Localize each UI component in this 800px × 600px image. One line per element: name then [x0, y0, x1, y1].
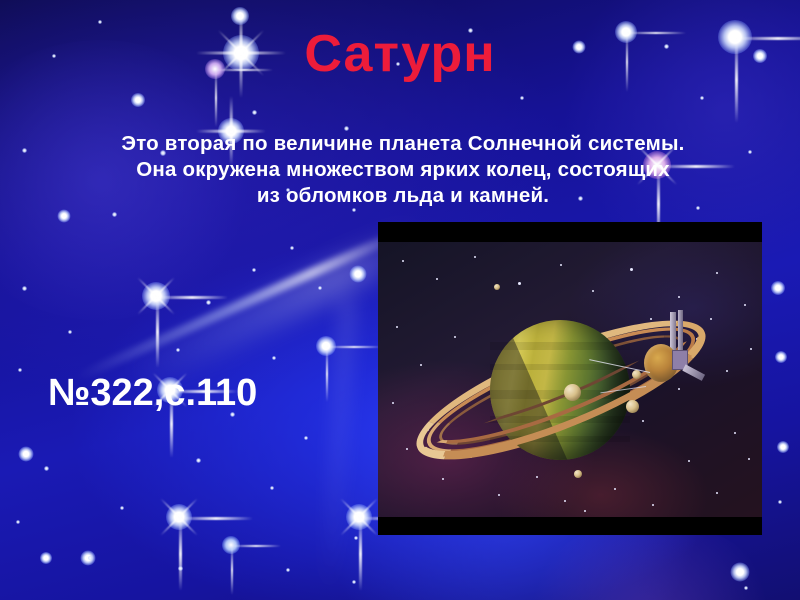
photo-star — [716, 492, 718, 494]
moon-small-lower — [574, 470, 582, 478]
point-star — [44, 466, 49, 471]
point-star — [520, 96, 524, 100]
point-star — [286, 568, 290, 572]
photo-star — [716, 272, 718, 274]
photo-star — [734, 432, 736, 434]
spacecraft-mast-secondary — [678, 310, 683, 352]
photo-star — [584, 510, 586, 512]
burst-star — [120, 260, 192, 332]
burst-star — [4, 432, 48, 476]
photo-star — [688, 460, 690, 462]
moon-beside-craft — [626, 400, 639, 413]
description-line: Это вторая по величине планета Солнечной… — [38, 131, 768, 157]
burst-star — [714, 546, 766, 598]
point-star — [290, 246, 294, 250]
burst-star — [28, 540, 64, 576]
photo-star — [652, 504, 654, 506]
burst-star — [116, 78, 160, 122]
spacecraft — [640, 308, 712, 394]
photo-star — [518, 282, 521, 285]
light-ray-vertical — [320, 300, 357, 600]
point-star — [98, 20, 102, 24]
point-star — [68, 330, 72, 334]
light-ray-diagonal — [74, 227, 407, 383]
slide-saturn: Сатурн Это вторая по величине планета Со… — [0, 0, 800, 600]
burst-star — [764, 340, 798, 374]
burst-star — [66, 536, 110, 580]
burst-star — [766, 430, 800, 464]
point-star — [252, 110, 257, 115]
burst-star — [298, 318, 354, 374]
point-star — [196, 458, 201, 463]
point-star — [22, 286, 27, 291]
point-star — [778, 500, 782, 504]
photo-star — [744, 304, 746, 306]
photo-star — [436, 278, 438, 280]
point-star — [18, 368, 22, 372]
point-star — [22, 148, 27, 153]
exercise-reference: №322,с.110 — [48, 374, 257, 412]
spacecraft-rtg-boom — [682, 364, 705, 381]
photo-star — [396, 326, 398, 328]
point-star — [16, 520, 20, 524]
point-star — [270, 486, 274, 490]
photo-star — [402, 260, 404, 262]
point-star — [700, 96, 704, 100]
point-star — [178, 566, 183, 571]
point-star — [272, 356, 276, 360]
point-star — [318, 286, 322, 290]
photo-star — [748, 458, 750, 460]
photo-star — [614, 488, 616, 490]
description-line: из обломков льда и камней. — [38, 183, 768, 209]
saturn-image — [378, 222, 762, 535]
point-star — [206, 300, 211, 305]
burst-star — [334, 250, 382, 298]
page-title: Сатурн — [0, 28, 800, 80]
moon-large — [564, 384, 581, 401]
description-line: Она окружена множеством ярких колец, сос… — [38, 157, 768, 183]
point-star — [304, 436, 308, 440]
saturn-planet — [490, 320, 630, 460]
burst-star — [758, 268, 798, 308]
photo-star — [474, 256, 476, 258]
photo-star — [750, 348, 752, 350]
photo-star — [560, 264, 562, 266]
point-star — [252, 268, 256, 272]
burst-star — [206, 520, 256, 570]
point-star — [352, 580, 356, 584]
point-star — [354, 536, 358, 540]
spacecraft-mast — [670, 312, 676, 352]
description-text: Это вторая по величине планета Солнечной… — [38, 131, 768, 209]
point-star — [744, 586, 748, 590]
moon-small-upper — [494, 284, 500, 290]
saturn-image-content — [378, 242, 762, 517]
point-star — [120, 506, 124, 510]
burst-star — [142, 480, 216, 554]
point-star — [88, 556, 92, 560]
point-star — [176, 348, 180, 352]
point-star — [112, 212, 117, 217]
photo-star — [564, 500, 566, 502]
